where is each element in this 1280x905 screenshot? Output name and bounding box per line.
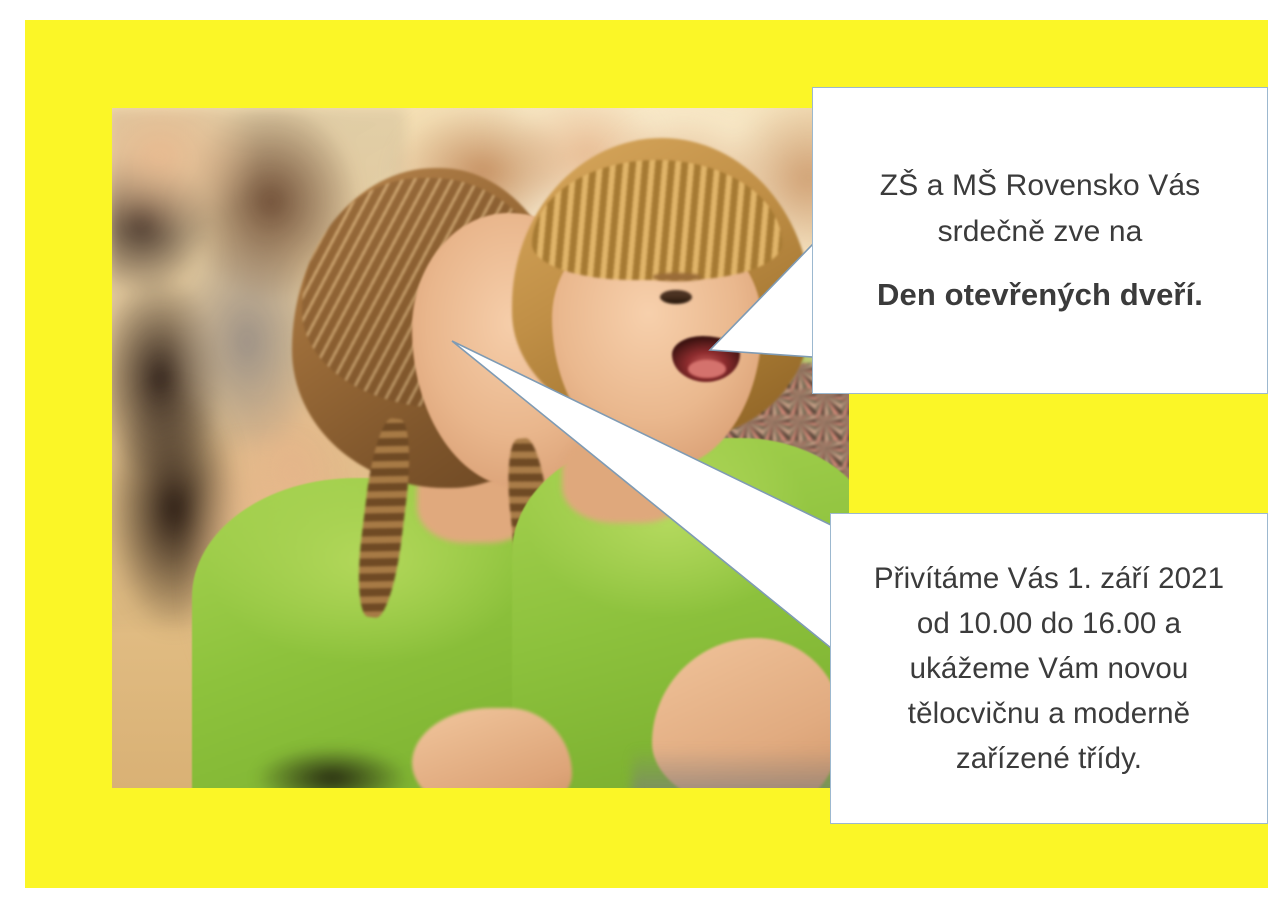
right-girl-eye <box>660 290 692 304</box>
details-line-2: od 10.00 do 16.00 a <box>849 601 1249 646</box>
details-line-4: tělocvičnu a moderně <box>849 691 1249 736</box>
invitation-line-2: srdečně zve na <box>839 209 1241 255</box>
invitation-callout[interactable]: ZŠ a MŠ Rovensko Vás srdečně zve na Den … <box>812 87 1268 394</box>
invitation-line-1: ZŠ a MŠ Rovensko Vás <box>839 163 1241 209</box>
details-callout[interactable]: Přivítáme Vás 1. září 2021 od 10.00 do 1… <box>830 513 1268 824</box>
invitation-emphasis: Den otevřených dveří. <box>839 271 1241 318</box>
photo-background <box>112 108 849 788</box>
details-line-5: zařízené třídy. <box>849 736 1249 781</box>
details-line-3: ukážeme Vám novou <box>849 646 1249 691</box>
right-girl-tongue <box>688 360 726 378</box>
right-girl-eyebrow <box>652 273 702 281</box>
photo-bottom-shadow <box>232 738 432 788</box>
floor-shadow <box>632 748 849 788</box>
details-line-1: Přivítáme Vás 1. září 2021 <box>849 556 1249 601</box>
poster-canvas: ZŠ a MŠ Rovensko Vás srdečně zve na Den … <box>0 0 1280 905</box>
photo-of-children <box>112 108 849 788</box>
